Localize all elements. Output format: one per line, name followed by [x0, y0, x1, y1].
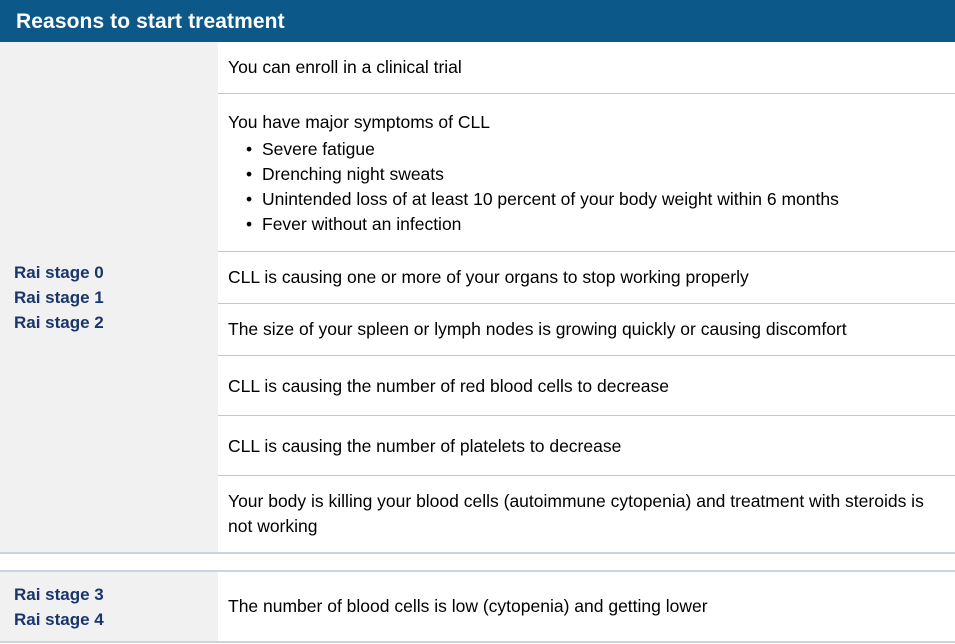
reason-row: The size of your spleen or lymph nodes i… [218, 304, 955, 356]
list-item: •Unintended loss of at least 10 percent … [244, 187, 937, 212]
reason-text: You have major symptoms of CLL [228, 110, 937, 135]
reasons-to-start-treatment-table: Reasons to start treatment Rai stage 0 R… [0, 0, 955, 644]
stage-cell-0-1-2: Rai stage 0 Rai stage 1 Rai stage 2 [0, 42, 218, 552]
reason-row: You have major symptoms of CLL •Severe f… [218, 94, 955, 252]
list-item: •Fever without an infection [244, 212, 937, 237]
list-item-label: Unintended loss of at least 10 percent o… [262, 189, 839, 209]
section-gap [0, 554, 955, 570]
list-item: •Drenching night sweats [244, 162, 937, 187]
page-title: Reasons to start treatment [16, 11, 285, 32]
reason-row: CLL is causing the number of red blood c… [218, 356, 955, 416]
reason-text: The number of blood cells is low (cytope… [228, 594, 937, 619]
reason-text: CLL is causing the number of platelets t… [228, 434, 937, 459]
bullet-dot-icon: • [246, 137, 252, 162]
stage-cell-3-4: Rai stage 3 Rai stage 4 [0, 572, 218, 641]
reason-text: CLL is causing the number of red blood c… [228, 374, 937, 399]
table-header-bar: Reasons to start treatment [0, 0, 955, 42]
list-item-label: Severe fatigue [262, 139, 375, 159]
list-item-label: Drenching night sweats [262, 164, 444, 184]
reason-row: The number of blood cells is low (cytope… [218, 572, 955, 641]
bullet-dot-icon: • [246, 162, 252, 187]
reasons-cell-0-1-2: You can enroll in a clinical trial You h… [218, 42, 955, 552]
symptom-bullet-list: •Severe fatigue •Drenching night sweats … [228, 137, 937, 237]
list-item: •Severe fatigue [244, 137, 937, 162]
stage-section-3-4: Rai stage 3 Rai stage 4 The number of bl… [0, 570, 955, 643]
reason-row: Your body is killing your blood cells (a… [218, 476, 955, 552]
bullet-dot-icon: • [246, 187, 252, 212]
stage-label-rai-3: Rai stage 3 [14, 582, 218, 607]
stage-label-rai-1: Rai stage 1 [14, 285, 218, 310]
stage-section-0-1-2: Rai stage 0 Rai stage 1 Rai stage 2 You … [0, 42, 955, 554]
reason-text: You can enroll in a clinical trial [228, 55, 937, 80]
bullet-dot-icon: • [246, 212, 252, 237]
reason-text: The size of your spleen or lymph nodes i… [228, 317, 937, 342]
stage-label-rai-2: Rai stage 2 [14, 310, 218, 335]
reason-text: CLL is causing one or more of your organ… [228, 265, 937, 290]
stage-label-rai-0: Rai stage 0 [14, 260, 218, 285]
reason-text: Your body is killing your blood cells (a… [228, 489, 937, 539]
stage-label-rai-4: Rai stage 4 [14, 607, 218, 632]
reason-row: You can enroll in a clinical trial [218, 42, 955, 94]
reason-row: CLL is causing the number of platelets t… [218, 416, 955, 476]
list-item-label: Fever without an infection [262, 214, 461, 234]
reason-row: CLL is causing one or more of your organ… [218, 252, 955, 304]
reasons-cell-3-4: The number of blood cells is low (cytope… [218, 572, 955, 641]
